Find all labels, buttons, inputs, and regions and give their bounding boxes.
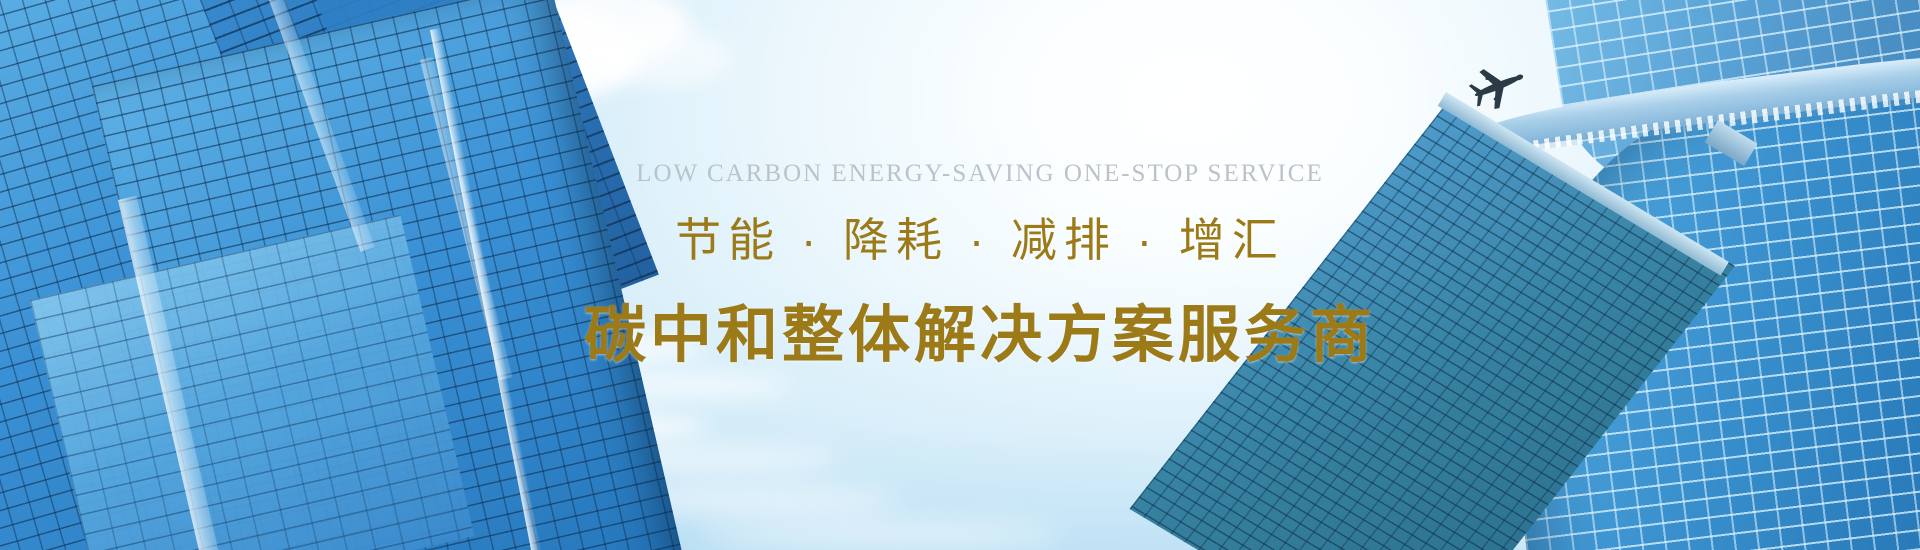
right-skyscrapers <box>1400 0 1920 550</box>
banner-eyebrow-english: LOW CARBON ENERGY-SAVING ONE-STOP SERVIC… <box>584 0 1376 188</box>
hero-banner: LOW CARBON ENERGY-SAVING ONE-STOP SERVIC… <box>0 0 1920 550</box>
left-skyscrapers <box>0 0 560 550</box>
banner-subheadline: 节能 · 降耗 · 减排 · 增汇 <box>584 188 1376 270</box>
